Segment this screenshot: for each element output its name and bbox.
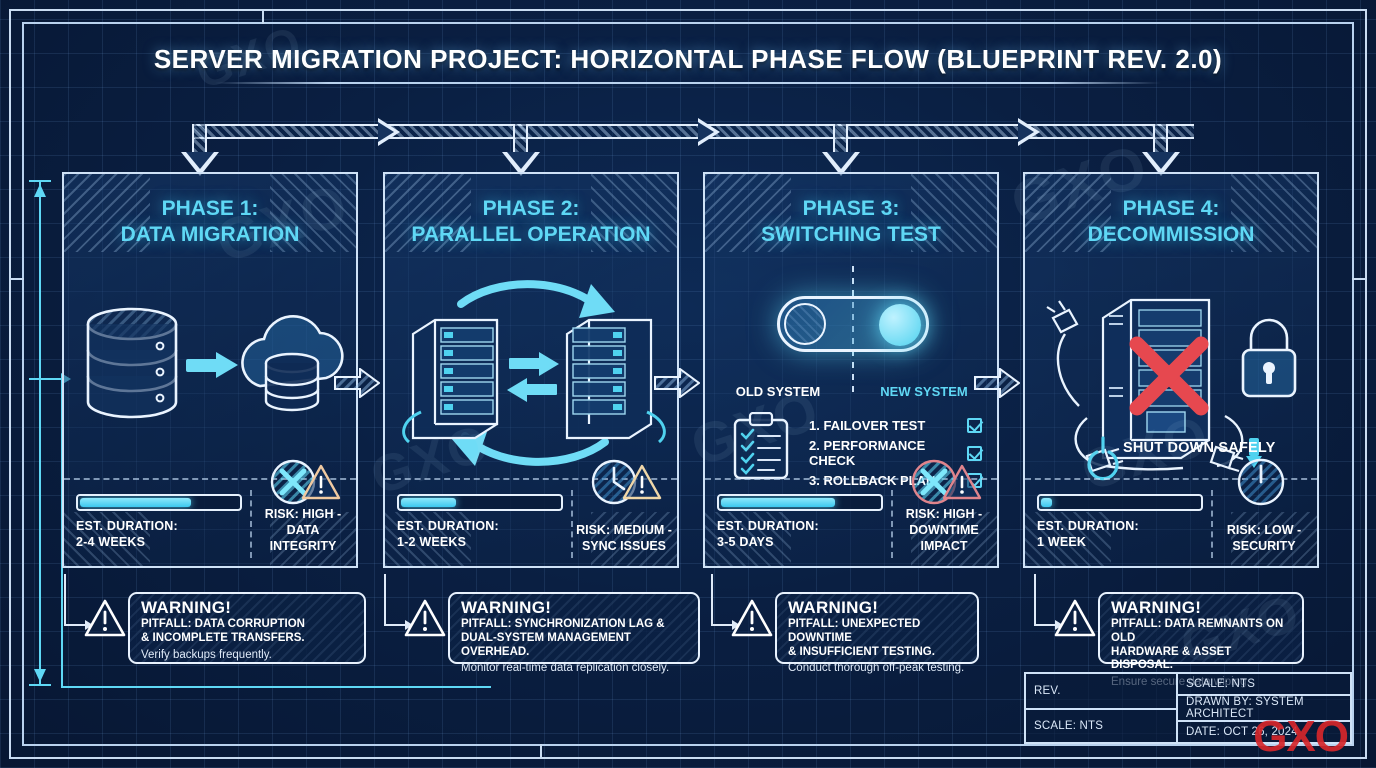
warning-box-3[interactable]: WARNING! PITFALL: UNEXPECTED DOWNTIME & …: [775, 592, 979, 664]
dimension-tick-top: [29, 180, 51, 182]
warning-connector-arrow: [713, 624, 733, 626]
flow-arrow-midpoint-3: [1018, 118, 1040, 146]
risk-block-4: RISK: LOW - SECURITY: [1213, 480, 1317, 566]
dimension-arrowhead-top: [34, 184, 46, 197]
blueprint-canvas: SERVER MIGRATION PROJECT: HORIZONTAL PHA…: [0, 0, 1376, 768]
flow-drop-arrow-phase-3: [833, 124, 848, 152]
warning-triangle-icon: [84, 598, 126, 643]
flow-drop-arrow-phase-2: [513, 124, 528, 152]
dimension-leader-mid: [29, 378, 63, 380]
frame-tick-top: [262, 9, 264, 24]
dimension-line-vertical: [39, 182, 41, 686]
duration-label-1: EST. DURATION: 2-4 WEEKS: [76, 518, 242, 550]
risk-block-3: RISK: HIGH - DOWNTIME IMPACT: [893, 480, 997, 566]
duration-block-4: EST. DURATION: 1 WEEK: [1025, 480, 1211, 566]
progress-fill: [80, 498, 191, 507]
progress-bar-4: [1037, 494, 1203, 511]
clipboard-icon: [731, 412, 791, 485]
checklist-label: 1. FAILOVER TEST: [809, 418, 967, 433]
title-block-drawn-by: DRAWN BY: SYSTEM ARCHITECT: [1178, 694, 1350, 720]
frame-tick-bottom: [540, 744, 542, 759]
progress-bar-3: [717, 494, 883, 511]
phase-footer-2: EST. DURATION: 1-2 WEEKS RISK: MEDIUM - …: [385, 478, 677, 566]
phase-footer-3: EST. DURATION: 3-5 DAYS RISK: HIGH - DOW…: [705, 478, 997, 566]
warning-pitfall: PITFALL: SYNCHRONIZATION LAG & DUAL-SYST…: [461, 618, 689, 659]
duration-block-3: EST. DURATION: 3-5 DAYS: [705, 480, 891, 566]
title-block-scale-nts: SCALE: NTS: [1178, 674, 1350, 694]
warning-connector-arrow: [386, 624, 406, 626]
phase-connector-arrow-1-2: [334, 368, 380, 398]
risk-label-4: RISK: LOW - SECURITY: [1213, 522, 1315, 554]
warning-heading: WARNING!: [141, 599, 355, 616]
warning-connector-stub: [64, 574, 66, 626]
phase-title-4: PHASE 4: DECOMMISSION: [1025, 196, 1317, 247]
flow-drop-arrow-phase-1: [192, 124, 207, 152]
flow-arrow-midpoint-1: [378, 118, 400, 146]
warning-heading: WARNING!: [788, 599, 968, 616]
warning-triangle-icon: [404, 598, 446, 643]
frame-tick-right: [1352, 278, 1367, 280]
risk-label-2: RISK: MEDIUM - SYNC ISSUES: [573, 522, 675, 554]
phase-panel-2[interactable]: PHASE 2: PARALLEL OPERATION: [383, 172, 679, 568]
duration-block-1: EST. DURATION: 2-4 WEEKS: [64, 480, 250, 566]
progress-fill: [401, 498, 456, 507]
phase-title-3: PHASE 3: SWITCHING TEST: [705, 196, 997, 247]
dimension-leader-bottom: [61, 686, 491, 688]
warning-heading: WARNING!: [461, 599, 689, 616]
phase-connector-arrow-3-4: [974, 368, 1020, 398]
warning-advice: Verify backups frequently.: [141, 648, 355, 662]
phase-title-1: PHASE 1: DATA MIGRATION: [64, 196, 356, 247]
duration-label-4: EST. DURATION: 1 WEEK: [1037, 518, 1203, 550]
warning-advice: Conduct thorough off-peak testing.: [788, 661, 968, 675]
phase-footer-4: EST. DURATION: 1 WEEK RISK: LOW - SECURI…: [1025, 478, 1317, 566]
warning-connector-arrow: [66, 624, 86, 626]
warning-connector-stub: [711, 574, 713, 626]
warning-connector-arrow: [1036, 624, 1056, 626]
flow-arrow-midpoint-2: [698, 118, 720, 146]
duration-label-3: EST. DURATION: 3-5 DAYS: [717, 518, 883, 550]
risk-clock-circle-icon: [1230, 454, 1292, 513]
phase-panel-1[interactable]: PHASE 1: DATA MIGRATION: [62, 172, 358, 568]
warning-pitfall: PITFALL: UNEXPECTED DOWNTIME & INSUFFICI…: [788, 618, 968, 659]
title-block-rev: REV.: [1026, 674, 1176, 708]
duration-block-2: EST. DURATION: 1-2 WEEKS: [385, 480, 571, 566]
progress-fill: [721, 498, 835, 507]
phase-footer-1: EST. DURATION: 2-4 WEEKS RISK: HIGH - DA…: [64, 478, 356, 566]
title-block-scale: SCALE: NTS: [1026, 708, 1176, 742]
risk-label-3: RISK: HIGH - DOWNTIME IMPACT: [893, 506, 995, 554]
risk-clock-warning-icon: [586, 454, 664, 513]
warning-box-4[interactable]: WARNING! PITFALL: DATA REMNANTS ON OLD H…: [1098, 592, 1304, 664]
risk-x-circle-warning-icon: [265, 454, 343, 513]
warning-advice: Monitor real-time data replication close…: [461, 661, 689, 675]
dimension-arrowhead-bottom: [34, 669, 46, 682]
toggle-captions: OLD SYSTEM NEW SYSTEM: [705, 384, 997, 399]
warning-triangle-icon: [731, 598, 773, 643]
dimension-tick-bottom: [29, 684, 51, 686]
warning-triangle-icon: [1054, 598, 1096, 643]
risk-block-1: RISK: HIGH - DATA INTEGRITY: [252, 480, 356, 566]
flow-drop-arrow-phase-4: [1153, 124, 1168, 152]
warning-box-2[interactable]: WARNING! PITFALL: SYNCHRONIZATION LAG & …: [448, 592, 700, 664]
phase-panel-4[interactable]: PHASE 4: DECOMMISSION: [1023, 172, 1319, 568]
duration-label-2: EST. DURATION: 1-2 WEEKS: [397, 518, 563, 550]
phase-title-2: PHASE 2: PARALLEL OPERATION: [385, 196, 677, 247]
checkbox-checked-icon[interactable]: [967, 418, 982, 433]
toggle-switch[interactable]: [777, 296, 929, 352]
title-block-left-column: REV. SCALE: NTS: [1026, 674, 1178, 742]
warning-pitfall: PITFALL: DATA CORRUPTION & INCOMPLETE TR…: [141, 618, 355, 646]
progress-bar-2: [397, 494, 563, 511]
title-underline: [215, 82, 1161, 84]
risk-block-2: RISK: MEDIUM - SYNC ISSUES: [573, 480, 677, 566]
title-block-date: DATE: OCT 26, 2024: [1178, 720, 1350, 742]
page-title: SERVER MIGRATION PROJECT: HORIZONTAL PHA…: [154, 44, 1222, 75]
title-block-right-column: SCALE: NTS DRAWN BY: SYSTEM ARCHITECT DA…: [1178, 674, 1350, 742]
risk-label-1: RISK: HIGH - DATA INTEGRITY: [252, 506, 354, 554]
phase-panel-3[interactable]: PHASE 3: SWITCHING TEST OLD SYSTEM NEW S…: [703, 172, 999, 568]
warning-heading: WARNING!: [1111, 599, 1293, 616]
toggle-old-label: OLD SYSTEM: [705, 384, 851, 399]
title-block: REV. SCALE: NTS SCALE: NTS DRAWN BY: SYS…: [1024, 672, 1352, 744]
progress-bar-1: [76, 494, 242, 511]
warning-connector-stub: [384, 574, 386, 626]
phase-flow-bar: [192, 124, 1194, 139]
warning-pitfall: PITFALL: DATA REMNANTS ON OLD HARDWARE &…: [1111, 618, 1293, 673]
risk-x-circle-warning-red-icon: [906, 454, 984, 513]
warning-box-1[interactable]: WARNING! PITFALL: DATA CORRUPTION & INCO…: [128, 592, 366, 664]
checklist-item[interactable]: 1. FAILOVER TEST: [809, 418, 982, 433]
page-title-wrap: SERVER MIGRATION PROJECT: HORIZONTAL PHA…: [0, 44, 1376, 75]
frame-tick-left: [9, 278, 24, 280]
toggle-off-track: [784, 303, 826, 345]
warning-connector-stub: [1034, 574, 1036, 626]
toggle-knob[interactable]: [879, 304, 921, 346]
progress-fill: [1041, 498, 1052, 507]
phase-connector-arrow-2-3: [654, 368, 700, 398]
